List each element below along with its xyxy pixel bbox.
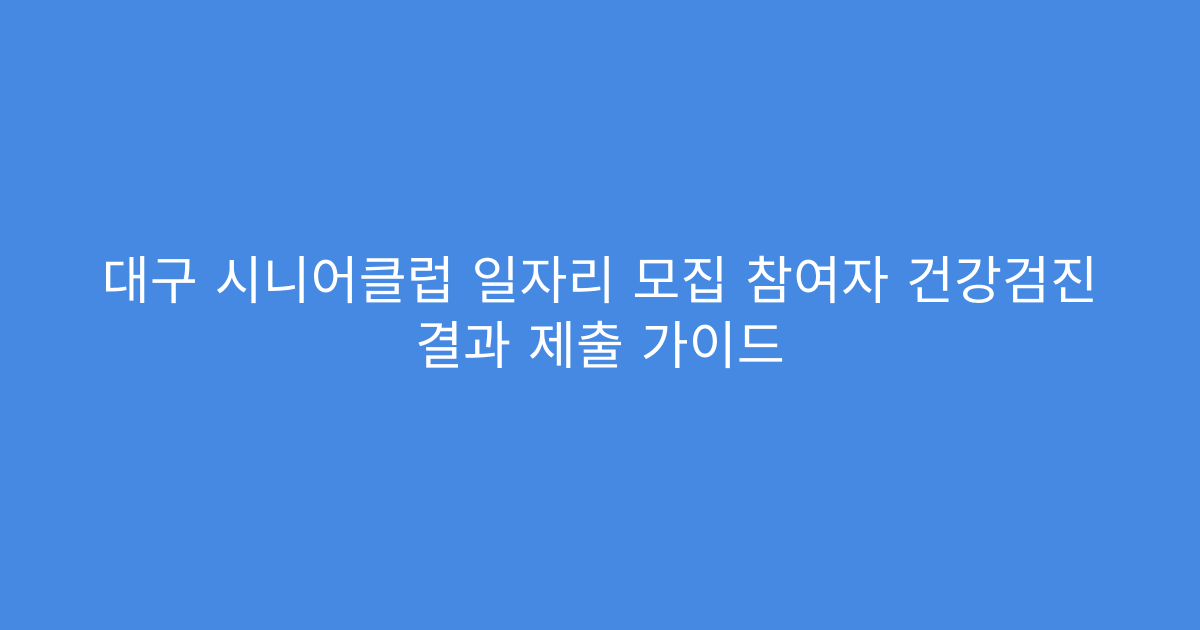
page-title: 대구 시니어클럽 일자리 모집 참여자 건강검진 결과 제출 가이드 [90,250,1110,380]
title-block: 대구 시니어클럽 일자리 모집 참여자 건강검진 결과 제출 가이드 [70,250,1130,380]
og-banner: 대구 시니어클럽 일자리 모집 참여자 건강검진 결과 제출 가이드 [0,0,1200,630]
